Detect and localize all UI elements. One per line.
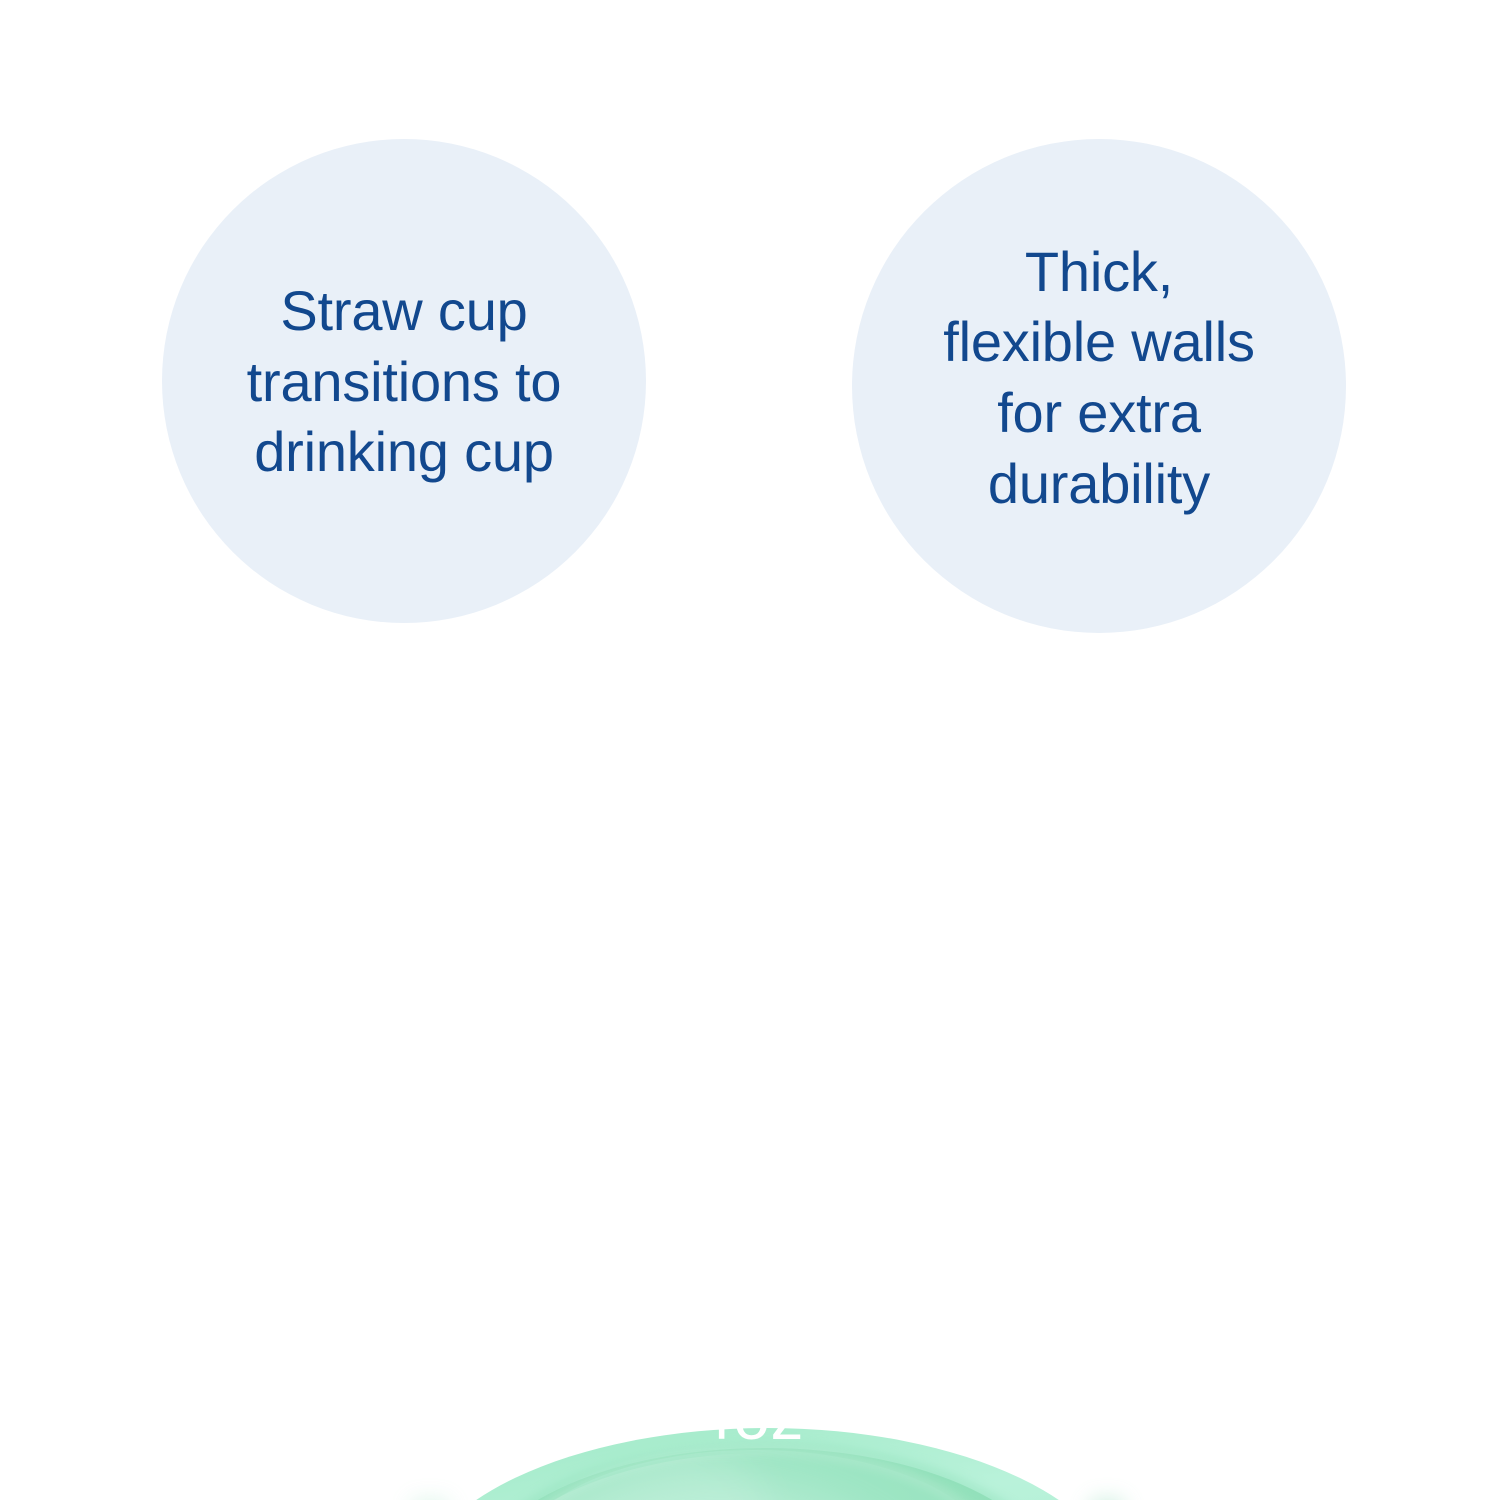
feature-bubble-straw-cup-text: Straw cup transitions to drinking cup [221,276,588,488]
cup-illustration: 4oz 4oz 120ML 120ML 2oz 2oz 60ML [0,700,1500,1500]
feature-bubble-thick-walls-text: Thick, flexible walls for extra durabili… [917,237,1281,519]
feature-bubble-straw-cup: Straw cup transitions to drinking cup [162,139,646,623]
feature-bubble-thick-walls: Thick, flexible walls for extra durabili… [852,139,1346,633]
product-image-silicone-cup: 4oz 4oz 120ML 120ML 2oz 2oz 60ML [0,700,1500,1500]
